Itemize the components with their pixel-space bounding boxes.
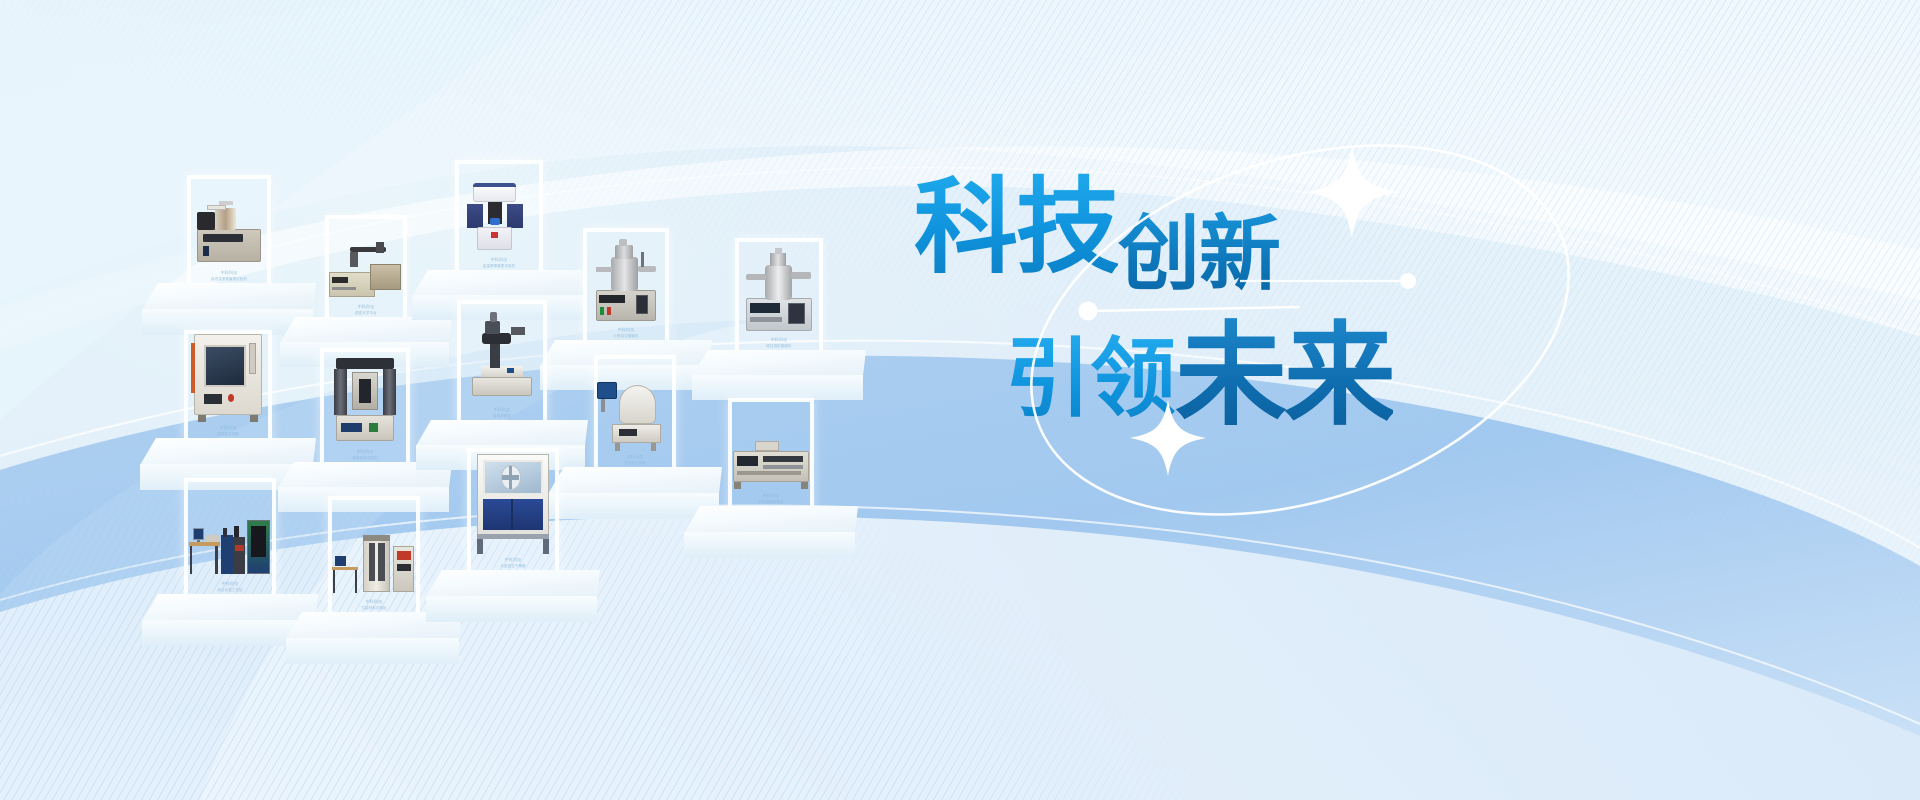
product-model: 磁控溅射镀膜机 [766, 344, 791, 348]
headline-line1-part-b: 创新 [1118, 209, 1280, 300]
product-brand: 中科科仪 [505, 557, 522, 562]
product-image [464, 308, 540, 404]
product-caption: 中科科仪精密光学平台 [327, 304, 405, 315]
product-image [474, 452, 552, 554]
pedestal-front [426, 596, 597, 622]
product-image [731, 434, 811, 490]
product-model: 激光加工系统 [624, 461, 646, 465]
product-brand: 中科科仪 [358, 304, 375, 309]
product-model: 高低温试验箱 [217, 432, 239, 436]
product-caption: 中科科仪金相显微镜 [464, 407, 540, 418]
product-brand: 中科科仪 [357, 449, 374, 454]
product-image [592, 238, 660, 324]
product-model: 大型真空干燥箱 [500, 564, 525, 568]
product-brand: 中科科仪 [222, 581, 239, 586]
product-caption: 中科科仪磁控溅射镀膜机 [743, 337, 815, 348]
headline-line-2: 引领未来 [1005, 326, 1393, 438]
product-brand: 中科科仪 [771, 337, 788, 342]
product-model: 小型真空镀膜机 [613, 334, 638, 338]
product-pedestal[interactable]: 中科科仪材料测试控制台 [684, 398, 858, 610]
product-caption: 中科科仪激光加工系统 [594, 454, 676, 465]
product-caption: 中科科仪小型真空镀膜机 [592, 327, 660, 338]
headline-line1-part-a: 科技 [914, 170, 1118, 286]
headline-block: 科技创新 引领未来 [905, 176, 1525, 436]
product-caption: 中科科仪高低温摩擦磨损试验机 [193, 270, 265, 281]
headline-line-1: 科技创新 [914, 176, 1280, 280]
product-image [187, 504, 273, 578]
product-caption: 中科科仪高温摩擦磨损试验机 [466, 257, 532, 268]
product-image [193, 201, 265, 267]
headline-line2-part-b: 未来 [1175, 313, 1393, 438]
pedestal-front [684, 532, 855, 558]
product-brand: 中科科仪 [494, 407, 511, 412]
product-brand: 中科科仪 [627, 454, 644, 459]
product-model: 高低温摩擦磨损试验机 [211, 277, 247, 281]
product-image [594, 367, 676, 451]
product-caption: 中科科仪综合实验工作站 [187, 581, 273, 592]
product-brand: 中科科仪 [618, 327, 635, 332]
product-image [330, 356, 400, 446]
pedestal-top [426, 570, 600, 597]
product-image [191, 330, 265, 422]
product-caption: 中科科仪材料测试控制台 [731, 493, 811, 504]
product-image [330, 530, 418, 596]
product-image [466, 182, 532, 254]
product-model: 高温摩擦磨损试验机 [483, 264, 515, 268]
product-brand: 中科科仪 [491, 257, 508, 262]
product-image [743, 248, 815, 334]
pedestal-top [684, 506, 858, 533]
product-brand: 中科科仪 [221, 270, 238, 275]
product-model: 精密光学平台 [355, 311, 377, 315]
headline-line2-part-a: 引领 [1005, 331, 1175, 427]
product-image [327, 241, 405, 301]
product-model: 材料测试控制台 [758, 500, 783, 504]
product-model: 金相显微镜 [493, 414, 511, 418]
product-model: 万能材料试验机 [361, 606, 386, 610]
hero-banner: 中科科仪高低温摩擦磨损试验机 中科科仪精密光学平台 中科科仪高温摩擦磨损试验机 [0, 0, 1920, 800]
product-brand: 中科科仪 [763, 493, 780, 498]
product-brand: 中科科仪 [220, 425, 237, 430]
product-caption: 中科科仪大型真空干燥箱 [474, 557, 552, 568]
product-pedestal[interactable]: 中科科仪大型真空干燥箱 [426, 448, 600, 674]
product-caption: 中科科仪万能材料试验机 [330, 599, 418, 610]
product-brand: 中科科仪 [366, 599, 383, 604]
product-caption: 中科科仪双轴疲劳试验机 [330, 449, 400, 460]
product-model: 双轴疲劳试验机 [352, 456, 377, 460]
product-model: 综合实验工作站 [217, 588, 242, 592]
product-caption: 中科科仪高低温试验箱 [191, 425, 265, 436]
